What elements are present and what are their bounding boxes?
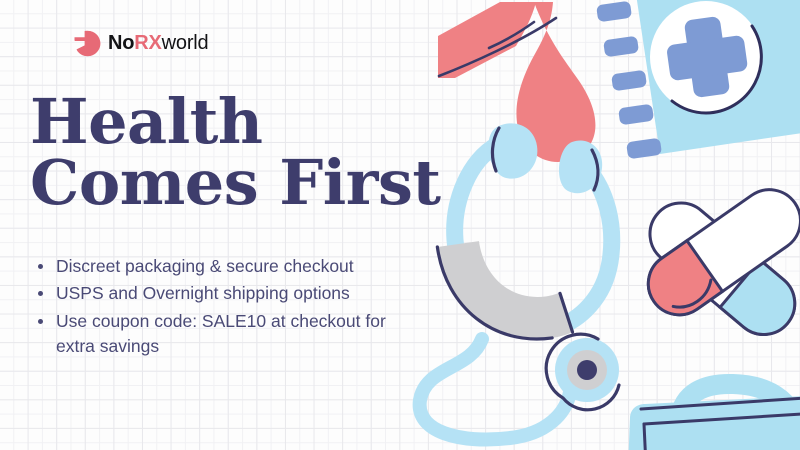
headline-line-2: Comes First xyxy=(30,153,441,214)
headline-line-1: Health xyxy=(30,92,441,153)
logo-text-world: world xyxy=(162,32,209,54)
decorative-curve xyxy=(454,120,470,136)
page-title: Health Comes First xyxy=(30,92,441,214)
list-item: Discreet packaging & secure checkout xyxy=(32,254,427,279)
banner-canvas: NoRXworld Health Comes First Discreet pa… xyxy=(0,0,800,450)
feature-list: Discreet packaging & secure checkout USP… xyxy=(32,254,427,362)
logo-text-rx: RX xyxy=(134,32,161,54)
list-item: Use coupon code: SALE10 at checkout for … xyxy=(32,309,427,360)
brand-logo[interactable]: NoRXworld xyxy=(74,28,208,58)
medical-bag-icon xyxy=(628,384,800,450)
logo-text-no: No xyxy=(108,32,134,54)
pharmacy-cross-circle-icon xyxy=(74,30,101,57)
medical-notebook-icon xyxy=(596,0,800,159)
brand-logo-text: NoRXworld xyxy=(108,33,208,53)
list-item: USPS and Overnight shipping options xyxy=(32,281,427,306)
illustration-art xyxy=(0,0,800,450)
capsule-pills-icon xyxy=(636,178,800,348)
stethoscope-icon xyxy=(420,123,619,439)
